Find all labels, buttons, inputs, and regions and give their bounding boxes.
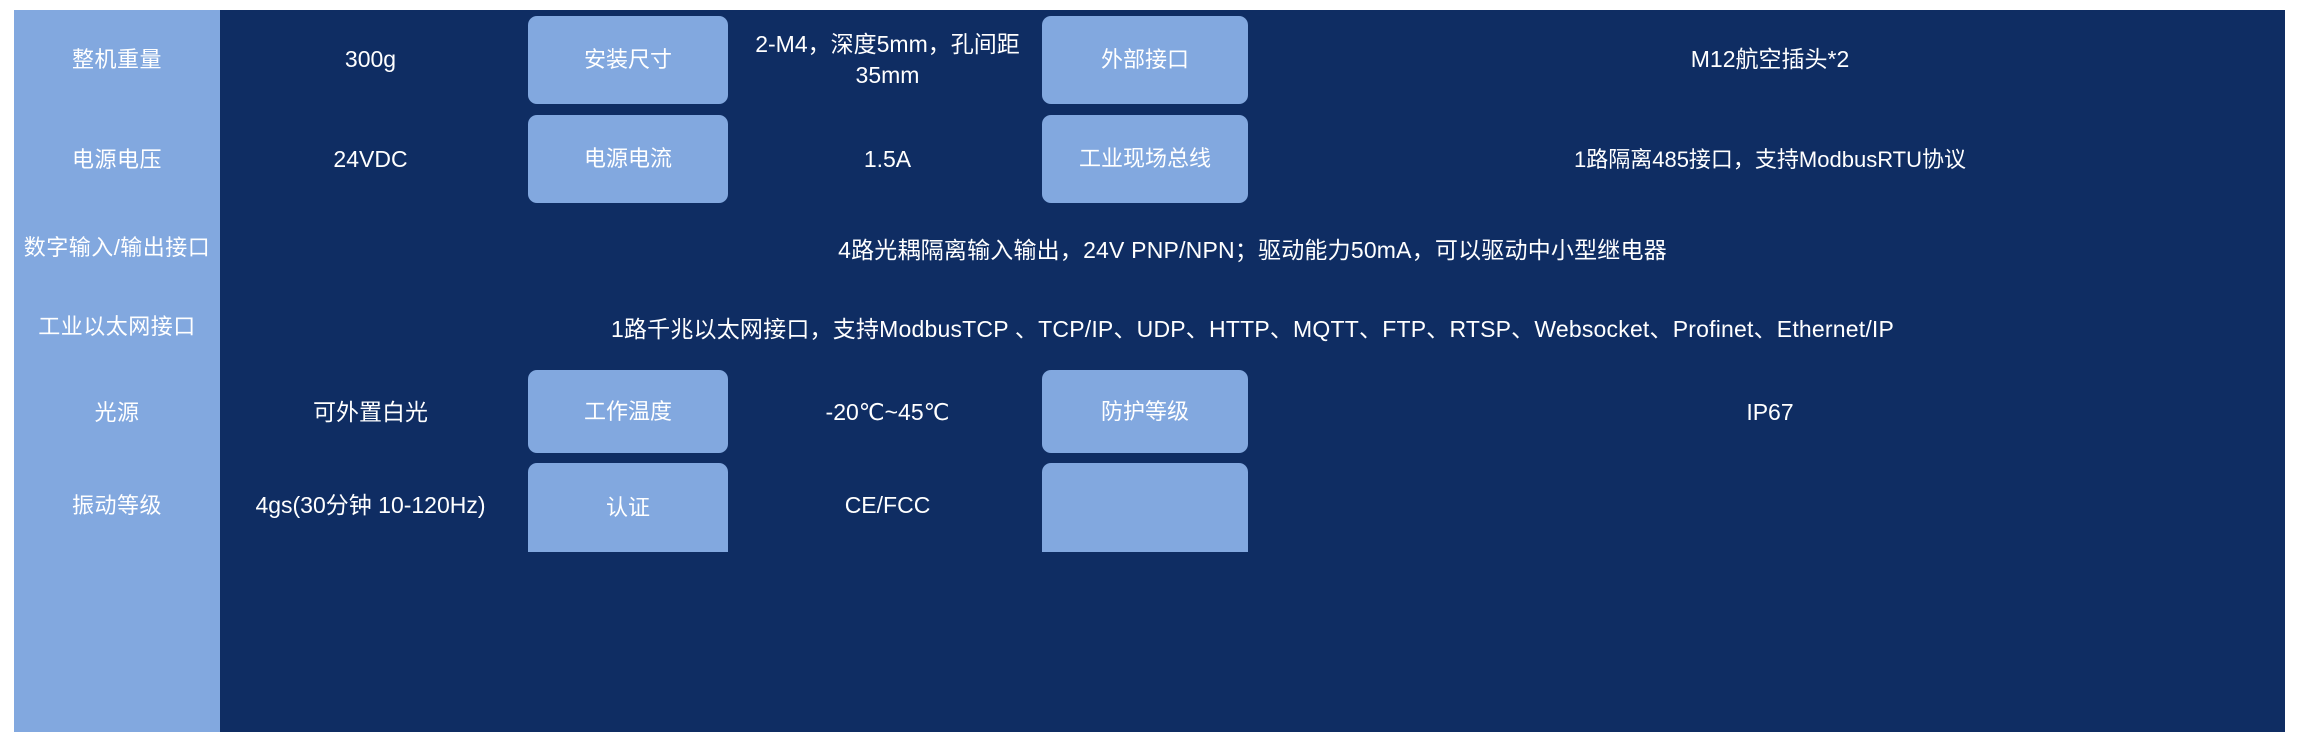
table-row: 4gs(30分钟 10-120Hz) 认证 CE/FCC [220, 459, 2285, 552]
table-row: 24VDC 电源电流 1.5A 工业现场总线 1路隔离485接口，支持Modbu… [220, 110, 2285, 209]
row-0-chip-2: 外部接口 [1042, 16, 1248, 104]
row-5-chip-1: 认证 [528, 463, 728, 552]
table-row: 300g 安装尺寸 2-M4，深度5mm，孔间距35mm 外部接口 M12航空插… [220, 10, 2285, 110]
row-label-1: 电源电压 [14, 110, 220, 209]
row-5-chip-2 [1042, 463, 1248, 552]
row-4-chip-1: 工作温度 [528, 370, 728, 453]
row-3-text: 1路千兆以太网接口，支持ModbusTCP 、TCP/IP、UDP、HTTP、M… [611, 310, 1894, 344]
row-1-chip-2: 工业现场总线 [1042, 115, 1248, 203]
table-row: 可外置白光 工作温度 -20℃~45℃ 防护等级 IP67 [220, 366, 2285, 459]
row-label-4: 光源 [14, 366, 220, 459]
row-label-3: 工业以太网接口 [14, 287, 220, 366]
row-4-value-1: 可外置白光 [220, 366, 521, 459]
row-0-value-1: 300g [220, 10, 521, 110]
row-label-5: 振动等级 [14, 459, 220, 552]
row-0-chip-1: 安装尺寸 [528, 16, 728, 104]
row-label-0: 整机重量 [14, 10, 220, 110]
row-0-value-2: 2-M4，深度5mm，孔间距35mm [735, 10, 1040, 110]
row-0-value-3: M12航空插头*2 [1255, 10, 2285, 110]
row-1-value-2: 1.5A [735, 110, 1040, 209]
row-5-value-1: 4gs(30分钟 10-120Hz) [220, 459, 521, 552]
row-4-value-3: IP67 [1255, 366, 2285, 459]
table-row: 4路光耦隔离输入输出，24V PNP/NPN；驱动能力50mA，可以驱动中小型继… [220, 209, 2285, 287]
row-label-2: 数字输入/输出接口 [14, 209, 220, 287]
row-5-value-2: CE/FCC [735, 459, 1040, 552]
spec-table: 整机重量 300g 安装尺寸 2-M4，深度5mm，孔间距35mm 外部接口 M… [14, 10, 2285, 732]
row-1-value-3: 1路隔离485接口，支持ModbusRTU协议 [1255, 110, 2285, 209]
row-2-text: 4路光耦隔离输入输出，24V PNP/NPN；驱动能力50mA，可以驱动中小型继… [838, 231, 1667, 265]
table-row: 1路千兆以太网接口，支持ModbusTCP 、TCP/IP、UDP、HTTP、M… [220, 287, 2285, 366]
row-4-chip-2: 防护等级 [1042, 370, 1248, 453]
row-1-chip-1: 电源电流 [528, 115, 728, 203]
row-5-value-3 [1255, 459, 2285, 552]
row-1-value-1: 24VDC [220, 110, 521, 209]
row-4-value-2: -20℃~45℃ [735, 366, 1040, 459]
